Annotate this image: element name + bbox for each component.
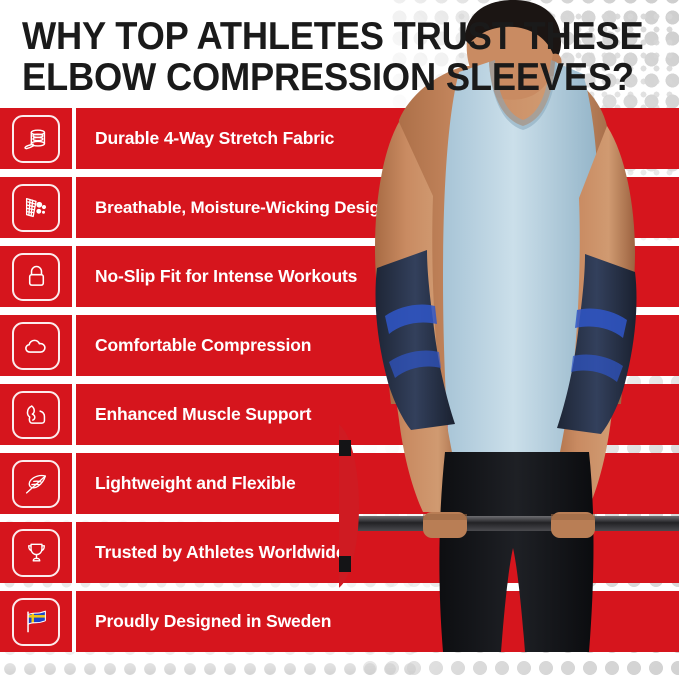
headline-line-1: WHY TOP ATHLETES TRUST THESE <box>22 16 506 57</box>
feature-label: Proudly Designed in Sweden <box>95 611 331 632</box>
sweden-flag-icon <box>12 598 60 646</box>
thread-spool-icon <box>12 115 60 163</box>
feature-row: No-Slip Fit for Intense Workouts <box>0 246 679 307</box>
feature-bar: Durable 4-Way Stretch Fabric <box>76 108 679 169</box>
feature-icon-cell <box>0 453 72 514</box>
feature-label: Breathable, Moisture-Wicking Design <box>95 198 390 218</box>
feature-label: Trusted by Athletes Worldwide <box>95 542 345 563</box>
feature-icon-cell <box>0 591 72 652</box>
feature-row: Proudly Designed in Sweden <box>0 591 679 652</box>
feature-list: Durable 4-Way Stretch Fabric <box>0 108 679 660</box>
feature-label: Enhanced Muscle Support <box>95 404 311 425</box>
feature-bar: Proudly Designed in Sweden <box>76 591 679 652</box>
feature-icon-cell <box>0 177 72 238</box>
feature-icon-cell <box>0 315 72 376</box>
feature-label: No-Slip Fit for Intense Workouts <box>95 266 357 287</box>
breathable-mesh-icon <box>12 184 60 232</box>
feature-bar: Enhanced Muscle Support <box>76 384 679 445</box>
feature-row: Lightweight and Flexible <box>0 453 679 514</box>
feather-icon <box>12 460 60 508</box>
feature-bar: Lightweight and Flexible <box>76 453 679 514</box>
feature-bar: No-Slip Fit for Intense Workouts <box>76 246 679 307</box>
feature-row: Trusted by Athletes Worldwide <box>0 522 679 583</box>
feature-label: Durable 4-Way Stretch Fabric <box>95 128 334 149</box>
feature-row: Enhanced Muscle Support <box>0 384 679 445</box>
feature-row: Comfortable Compression <box>0 315 679 376</box>
feature-bar: Trusted by Athletes Worldwide <box>76 522 679 583</box>
feature-icon-cell <box>0 384 72 445</box>
trophy-icon <box>12 529 60 577</box>
product-feature-infographic: WHY TOP ATHLETES TRUST THESE ELBOW COMPR… <box>0 0 679 679</box>
feature-icon-cell <box>0 246 72 307</box>
flexed-bicep-icon <box>12 391 60 439</box>
cloud-icon <box>12 322 60 370</box>
feature-label: Comfortable Compression <box>95 335 311 356</box>
lock-icon <box>12 253 60 301</box>
feature-row: Durable 4-Way Stretch Fabric <box>0 108 679 169</box>
feature-label: Lightweight and Flexible <box>95 473 296 494</box>
feature-icon-cell <box>0 522 72 583</box>
feature-bar: Comfortable Compression <box>76 315 679 376</box>
feature-row: Breathable, Moisture-Wicking Design <box>0 177 679 238</box>
feature-bar: Breathable, Moisture-Wicking Design <box>76 177 679 238</box>
feature-icon-cell <box>0 108 72 169</box>
headline-line-2: ELBOW COMPRESSION SLEEVES? <box>22 57 506 98</box>
headline: WHY TOP ATHLETES TRUST THESE ELBOW COMPR… <box>22 16 506 98</box>
